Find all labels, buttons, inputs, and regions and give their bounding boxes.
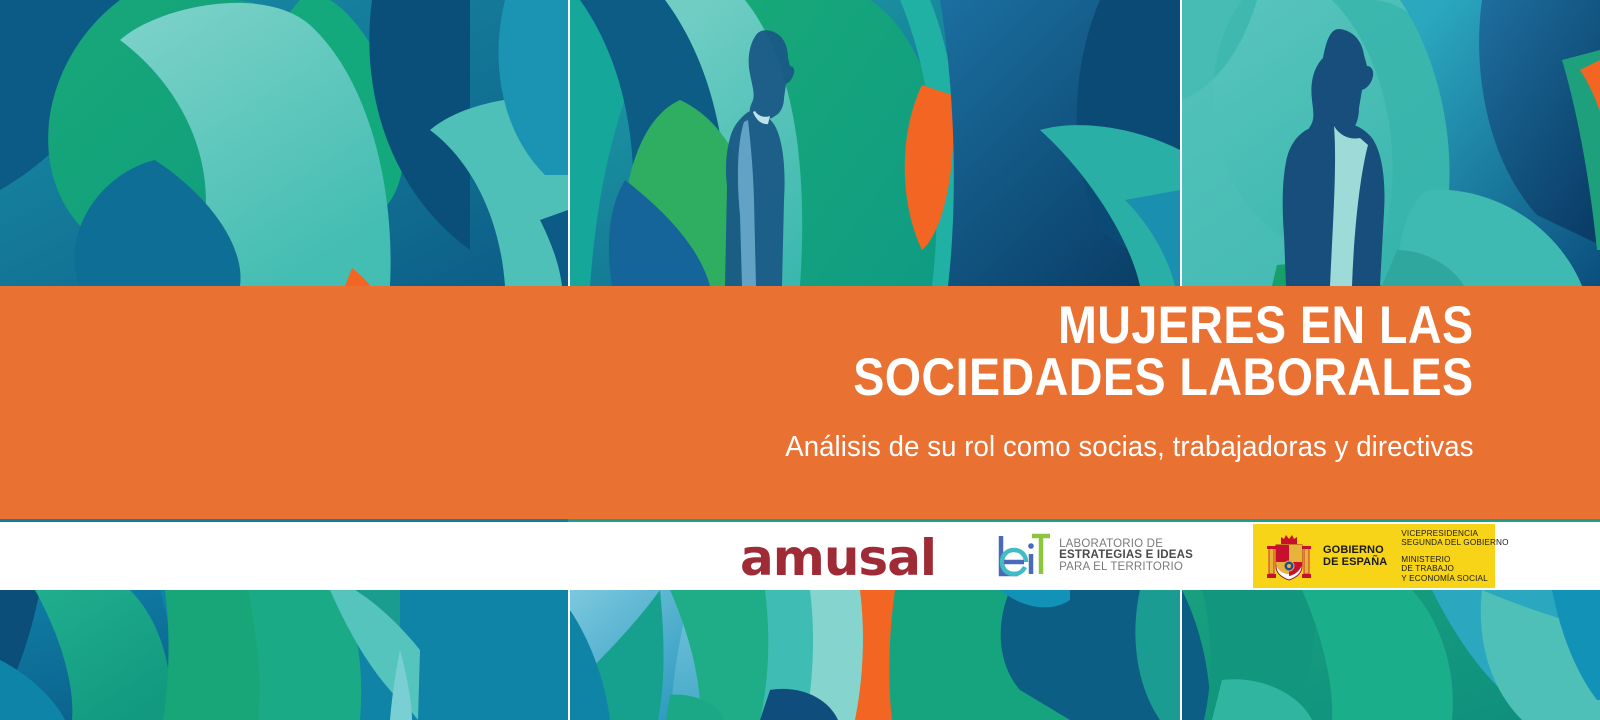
ministerio-line-1: MINISTERIO bbox=[1401, 555, 1508, 565]
leit-line-3: PARA EL TERRITORIO bbox=[1059, 562, 1193, 574]
amusal-logo: amusal bbox=[740, 533, 936, 583]
leit-tagline: LABORATORIO DE ESTRATEGIAS E IDEAS PARA … bbox=[1059, 539, 1193, 574]
leit-logo: LABORATORIO DE ESTRATEGIAS E IDEAS PARA … bbox=[994, 528, 1193, 584]
ministerio-lines: MINISTERIO DE TRABAJO Y ECONOMÍA SOCIAL bbox=[1401, 555, 1508, 584]
vicepresidencia-line-1: VICEPRESIDENCIA bbox=[1401, 529, 1508, 539]
bottom-illustration bbox=[0, 590, 1600, 720]
title-block: MUJERES EN LAS SOCIEDADES LABORALES Anál… bbox=[749, 300, 1474, 464]
gobierno-line-1: GOBIERNO bbox=[1323, 544, 1387, 556]
logo-row: amusal bbox=[740, 522, 1495, 590]
page-title-line-1: MUJERES EN LAS bbox=[836, 300, 1474, 352]
leit-mark-icon bbox=[994, 528, 1052, 584]
logo-strip: amusal bbox=[0, 522, 1600, 590]
vicepresidencia-line-2: SEGUNDA DEL GOBIERNO bbox=[1401, 538, 1508, 548]
bottom-panel-right bbox=[1182, 590, 1600, 720]
top-illustration bbox=[0, 0, 1600, 286]
page-title-line-2: SOCIEDADES LABORALES bbox=[836, 352, 1474, 404]
gobierno-de-espana-logo: GOBIERNO DE ESPAÑA VICEPRESIDENCIA SEGUN… bbox=[1253, 524, 1495, 588]
bottom-panel-center bbox=[570, 590, 1180, 720]
gobierno-line-2: DE ESPAÑA bbox=[1323, 556, 1387, 568]
illustration-panel-center bbox=[570, 0, 1180, 286]
illustration-panel-right bbox=[1182, 0, 1600, 286]
page-subtitle: Análisis de su rol como socias, trabajad… bbox=[786, 431, 1474, 464]
ministerio-line-3: Y ECONOMÍA SOCIAL bbox=[1401, 574, 1508, 584]
ministerio-block: VICEPRESIDENCIA SEGUNDA DEL GOBIERNO MIN… bbox=[1401, 529, 1508, 584]
report-cover: MUJERES EN LAS SOCIEDADES LABORALES Anál… bbox=[0, 0, 1600, 720]
ministerio-line-2: DE TRABAJO bbox=[1401, 564, 1508, 574]
gobierno-name: GOBIERNO DE ESPAÑA bbox=[1323, 544, 1387, 568]
vicepresidencia-block: VICEPRESIDENCIA SEGUNDA DEL GOBIERNO bbox=[1401, 529, 1508, 548]
spanish-coat-of-arms-icon bbox=[1263, 528, 1315, 584]
bottom-panel-left bbox=[0, 590, 568, 720]
illustration-panel-left bbox=[0, 0, 568, 286]
